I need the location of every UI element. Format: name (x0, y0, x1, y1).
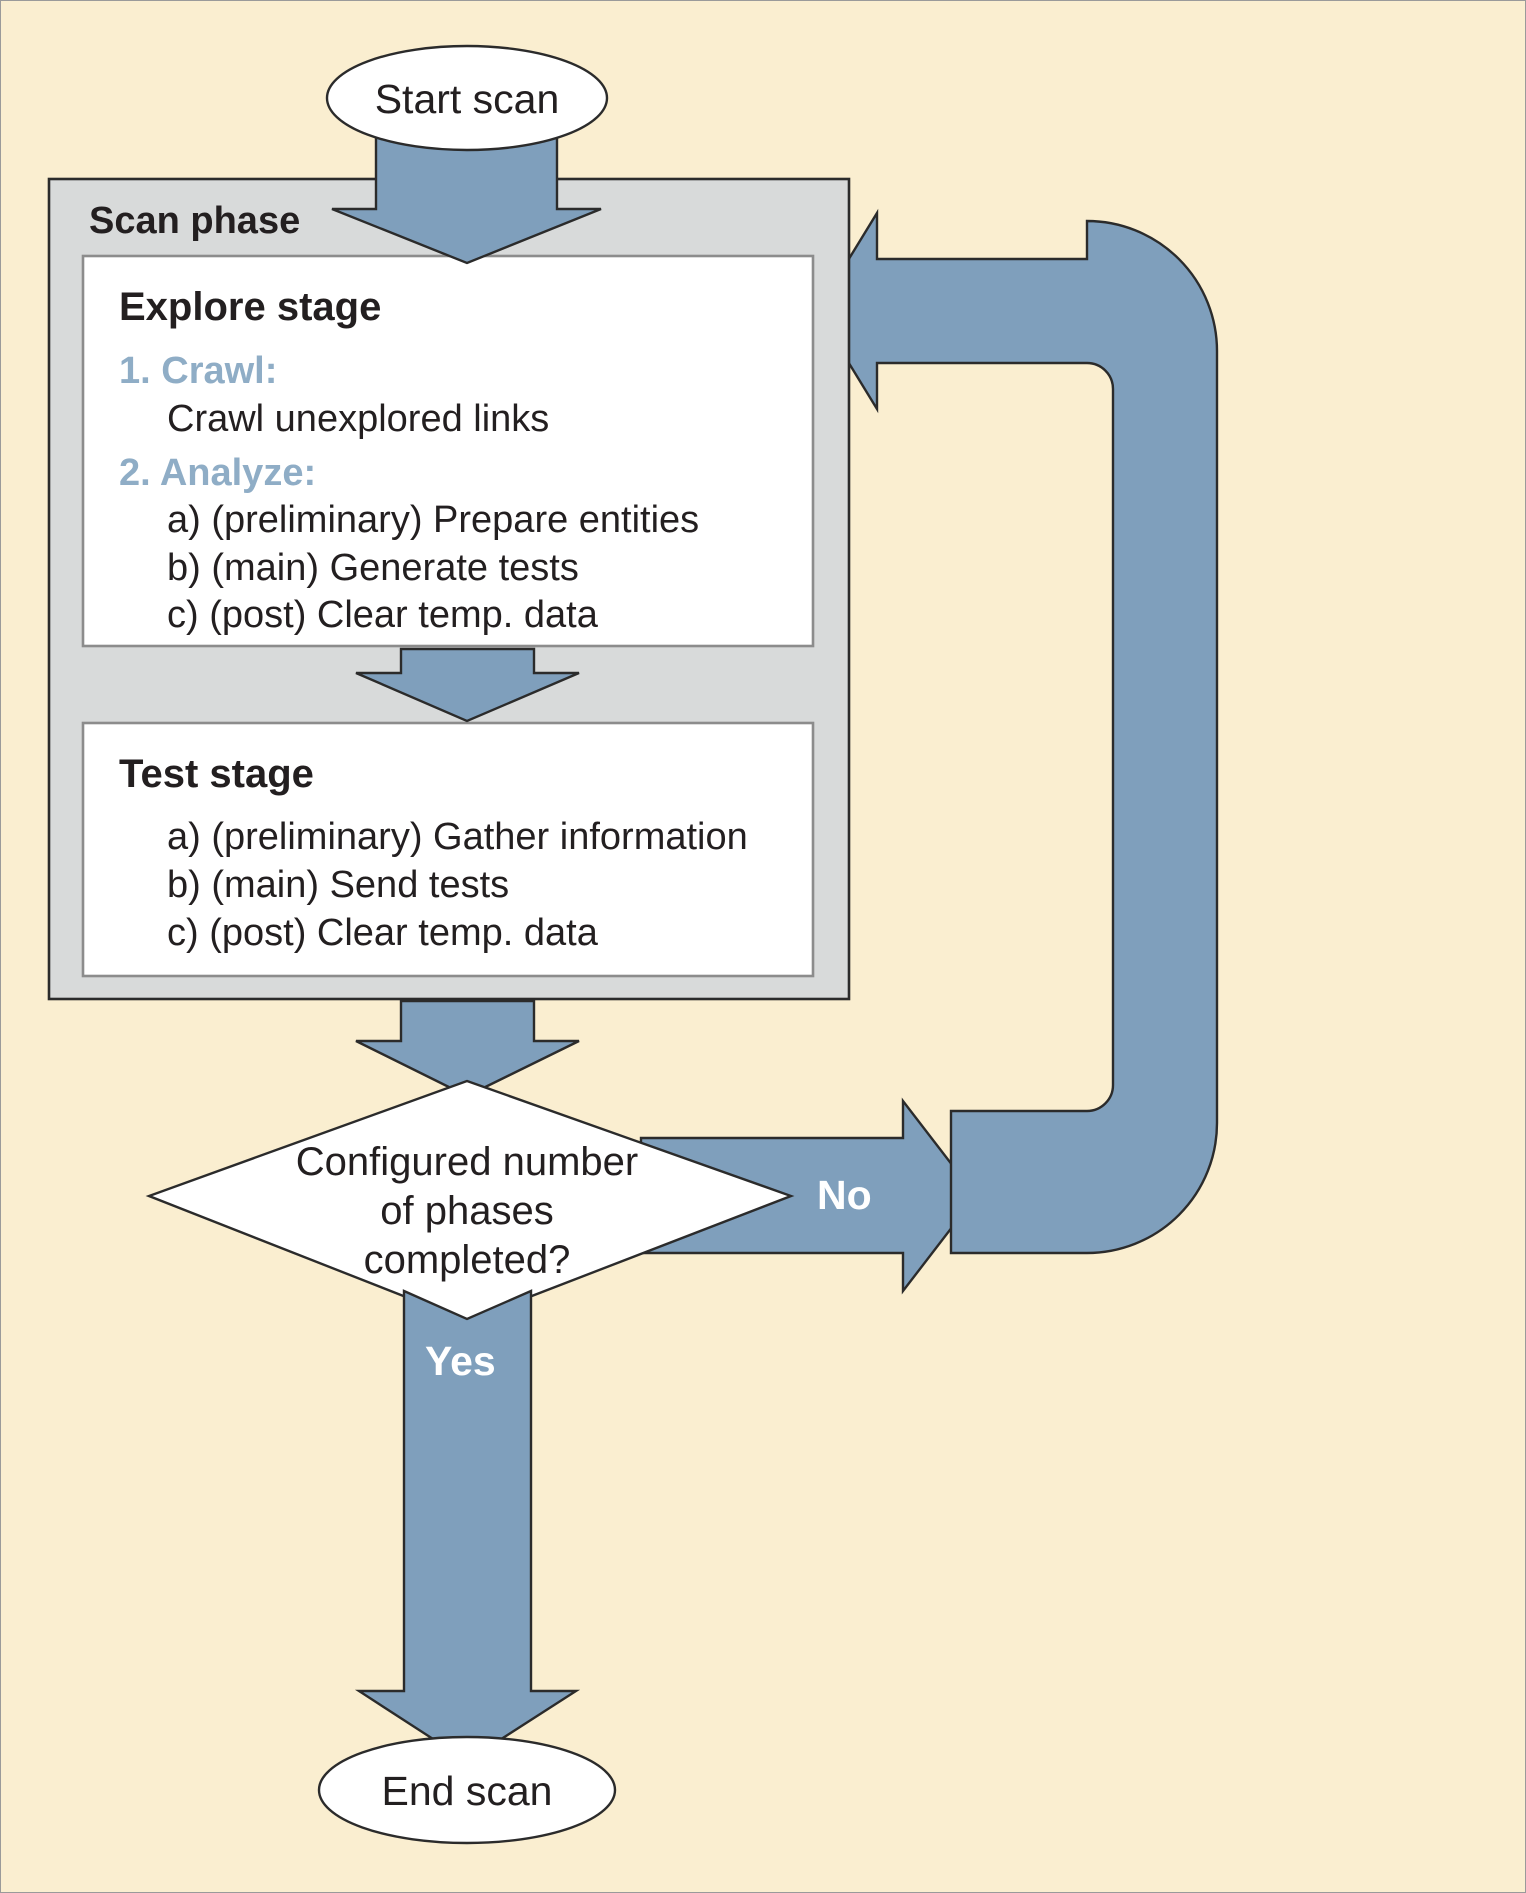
test-stage-title: Test stage (119, 751, 314, 798)
decision-branch-no-label: No (817, 1171, 872, 1219)
test-stage-sub-c: c) (post) Clear temp. data (167, 911, 598, 956)
test-stage-sub-b: b) (main) Send tests (167, 863, 509, 908)
loop-arrow-body (817, 213, 1217, 1253)
decision-label-line-3: completed? (267, 1236, 667, 1285)
explore-step-2-sub-a: a) (preliminary) Prepare entities (167, 498, 699, 543)
explore-step-2-sub-c: c) (post) Clear temp. data (167, 593, 598, 638)
decision-branch-yes-label: Yes (425, 1337, 496, 1385)
test-stage-sub-a: a) (preliminary) Gather information (167, 815, 748, 860)
start-node-label: Start scan (317, 75, 617, 123)
explore-stage-title: Explore stage (119, 284, 381, 331)
explore-step-1-detail: Crawl unexplored links (167, 397, 549, 442)
flowchart-canvas: Start scan Scan phase Explore stage 1. C… (0, 0, 1526, 1893)
scan-phase-title: Scan phase (89, 199, 300, 244)
decision-label-line-2: of phases (267, 1187, 667, 1236)
explore-step-2-sub-b: b) (main) Generate tests (167, 546, 579, 591)
explore-step-2-head: 2. Analyze: (119, 451, 316, 496)
end-node-label: End scan (317, 1767, 617, 1815)
explore-step-1-head: 1. Crawl: (119, 349, 277, 394)
decision-label-line-1: Configured number (267, 1138, 667, 1187)
